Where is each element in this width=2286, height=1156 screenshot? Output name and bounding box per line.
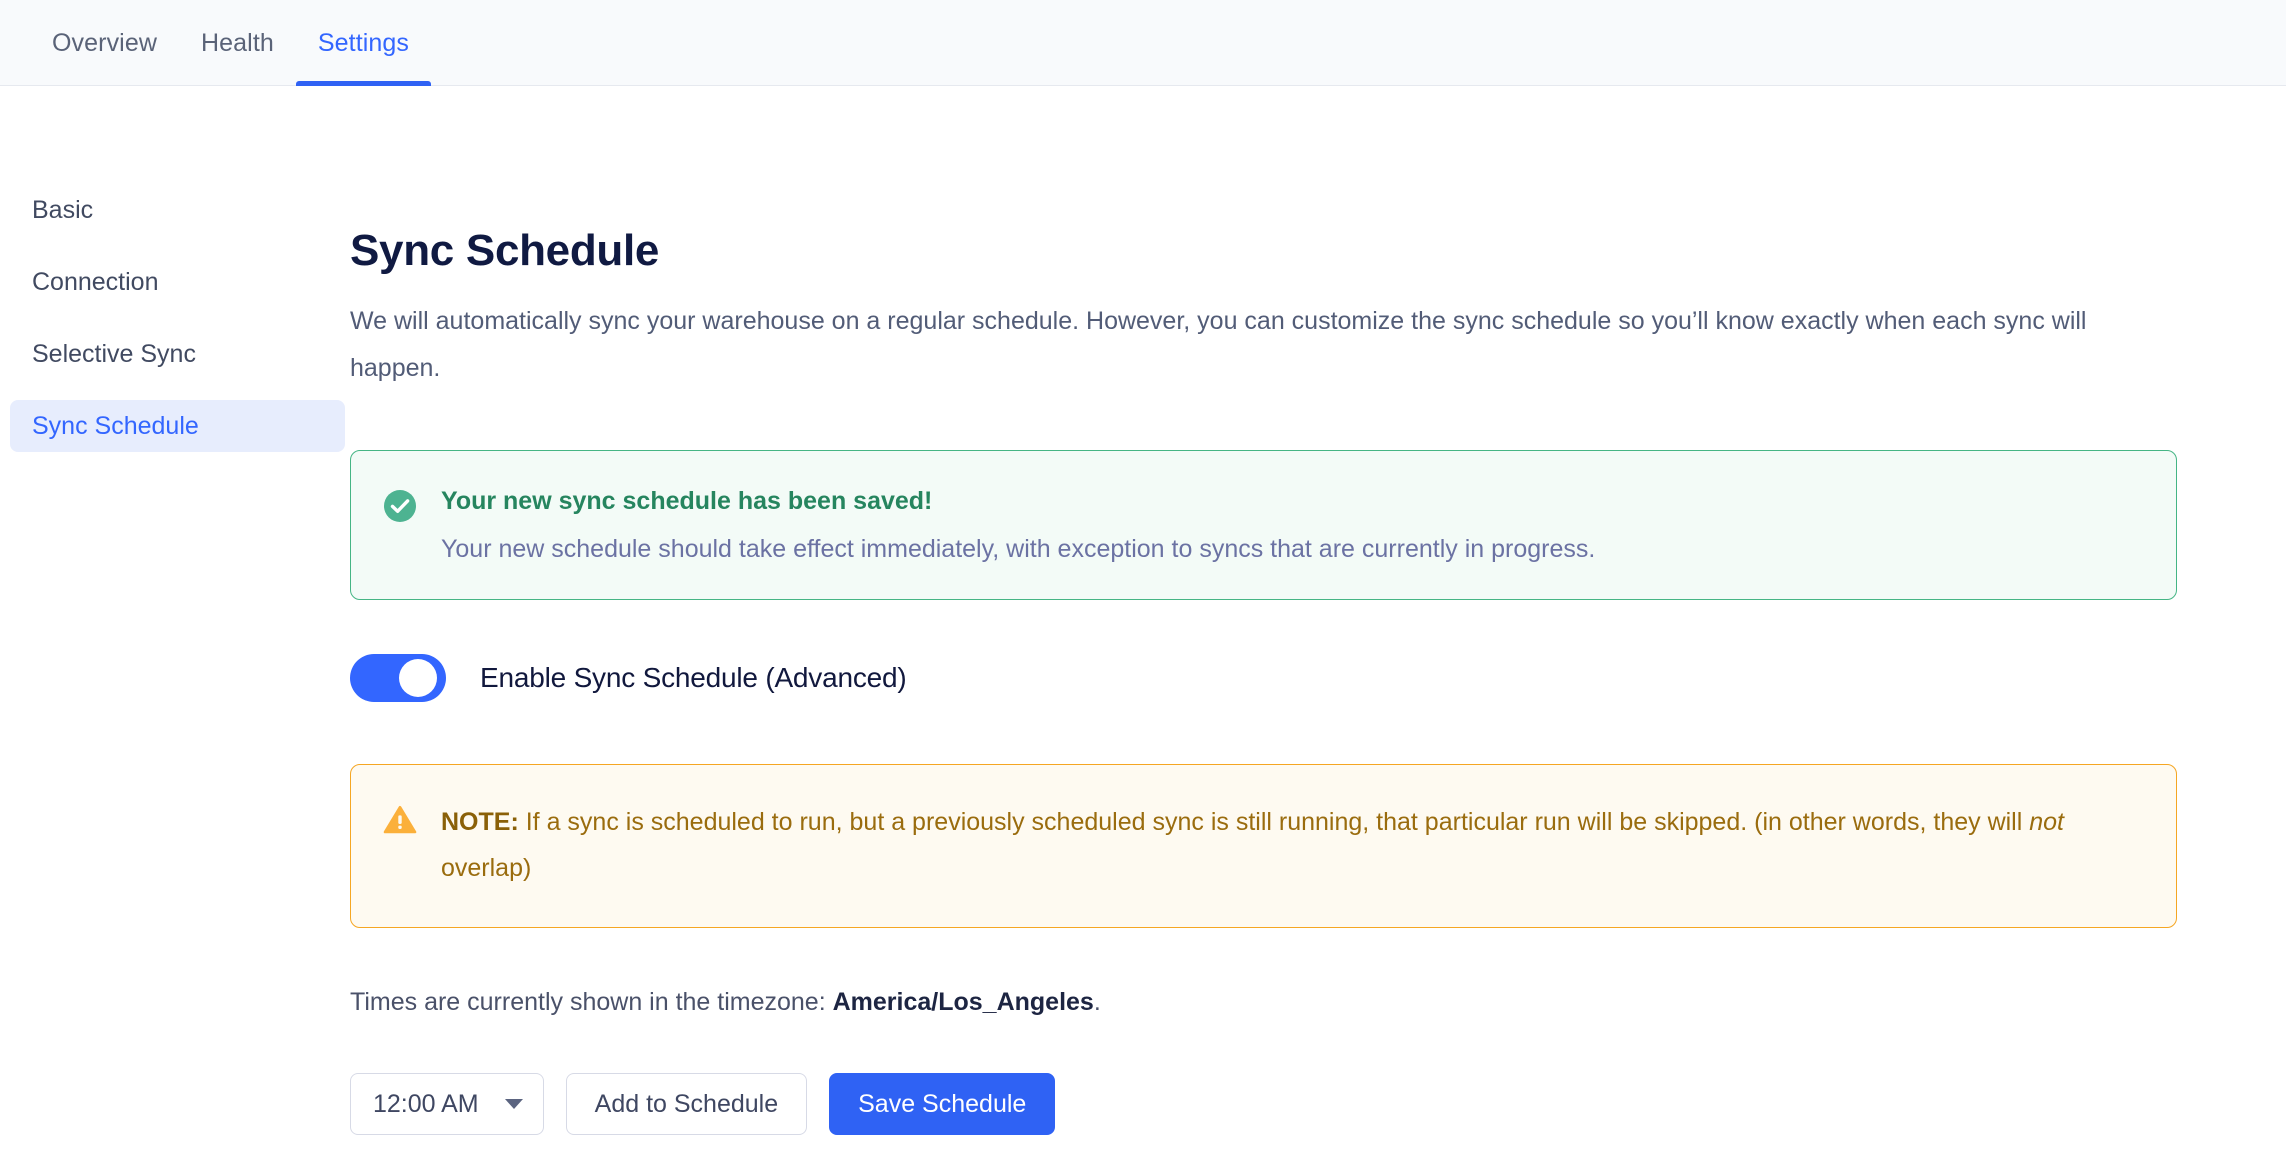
page-title: Sync Schedule xyxy=(350,226,2238,276)
tab-overview-label: Overview xyxy=(52,29,157,58)
success-alert-body: Your new sync schedule has been saved! Y… xyxy=(441,485,2146,565)
sidebar-item-selective-sync[interactable]: Selective Sync xyxy=(10,328,350,380)
settings-sidebar: Basic Connection Selective Sync Sync Sch… xyxy=(0,86,350,472)
top-tab-bar: Overview Health Settings xyxy=(0,0,2286,86)
page-description: We will automatically sync your warehous… xyxy=(350,298,2180,392)
timezone-value: America/Los_Angeles xyxy=(833,988,1094,1016)
note-alert: NOTE: If a sync is scheduled to run, but… xyxy=(350,764,2177,928)
timezone-suffix: . xyxy=(1094,988,1101,1016)
enable-sync-schedule-row: Enable Sync Schedule (Advanced) xyxy=(350,654,2238,702)
add-to-schedule-label: Add to Schedule xyxy=(595,1090,778,1119)
check-circle-icon xyxy=(383,489,417,528)
schedule-controls: 12:00 AM Add to Schedule Save Schedule xyxy=(350,1073,2238,1135)
note-text-part1: If a sync is scheduled to run, but a pre… xyxy=(519,808,2029,836)
success-alert-title: Your new sync schedule has been saved! xyxy=(441,485,2146,517)
tab-settings-label: Settings xyxy=(318,29,409,58)
sidebar-item-basic[interactable]: Basic xyxy=(10,184,350,236)
time-select[interactable]: 12:00 AM xyxy=(350,1073,544,1135)
warning-triangle-icon xyxy=(383,803,417,842)
time-select-value: 12:00 AM xyxy=(373,1090,479,1119)
tab-health[interactable]: Health xyxy=(179,0,296,86)
timezone-line: Times are currently shown in the timezon… xyxy=(350,988,2238,1017)
success-alert-subtitle: Your new schedule should take effect imm… xyxy=(441,533,2146,565)
note-alert-body: NOTE: If a sync is scheduled to run, but… xyxy=(441,799,2146,891)
tab-settings[interactable]: Settings xyxy=(296,0,431,86)
save-schedule-button[interactable]: Save Schedule xyxy=(829,1073,1055,1135)
enable-sync-schedule-toggle[interactable] xyxy=(350,654,446,702)
sidebar-item-label: Selective Sync xyxy=(32,340,196,369)
save-schedule-label: Save Schedule xyxy=(858,1090,1026,1119)
sidebar-item-label: Sync Schedule xyxy=(32,412,199,441)
note-emphasis: not xyxy=(2029,808,2064,836)
note-prefix: NOTE: xyxy=(441,808,519,836)
sidebar-item-label: Basic xyxy=(32,196,93,225)
toggle-knob xyxy=(399,659,437,697)
tab-health-label: Health xyxy=(201,29,274,58)
sidebar-item-sync-schedule[interactable]: Sync Schedule xyxy=(10,400,345,452)
tab-overview[interactable]: Overview xyxy=(30,0,179,86)
timezone-prefix: Times are currently shown in the timezon… xyxy=(350,988,833,1016)
tab-active-underline xyxy=(296,81,431,86)
chevron-down-icon xyxy=(505,1099,523,1109)
sidebar-item-label: Connection xyxy=(32,268,158,297)
note-text-part2: overlap) xyxy=(441,854,531,882)
enable-sync-schedule-label: Enable Sync Schedule (Advanced) xyxy=(480,662,907,694)
sidebar-item-connection[interactable]: Connection xyxy=(10,256,350,308)
success-alert: Your new sync schedule has been saved! Y… xyxy=(350,450,2177,600)
page-body: Basic Connection Selective Sync Sync Sch… xyxy=(0,86,2286,1156)
main-content: Sync Schedule We will automatically sync… xyxy=(350,86,2286,1156)
note-alert-text: NOTE: If a sync is scheduled to run, but… xyxy=(441,799,2146,891)
add-to-schedule-button[interactable]: Add to Schedule xyxy=(566,1073,807,1135)
